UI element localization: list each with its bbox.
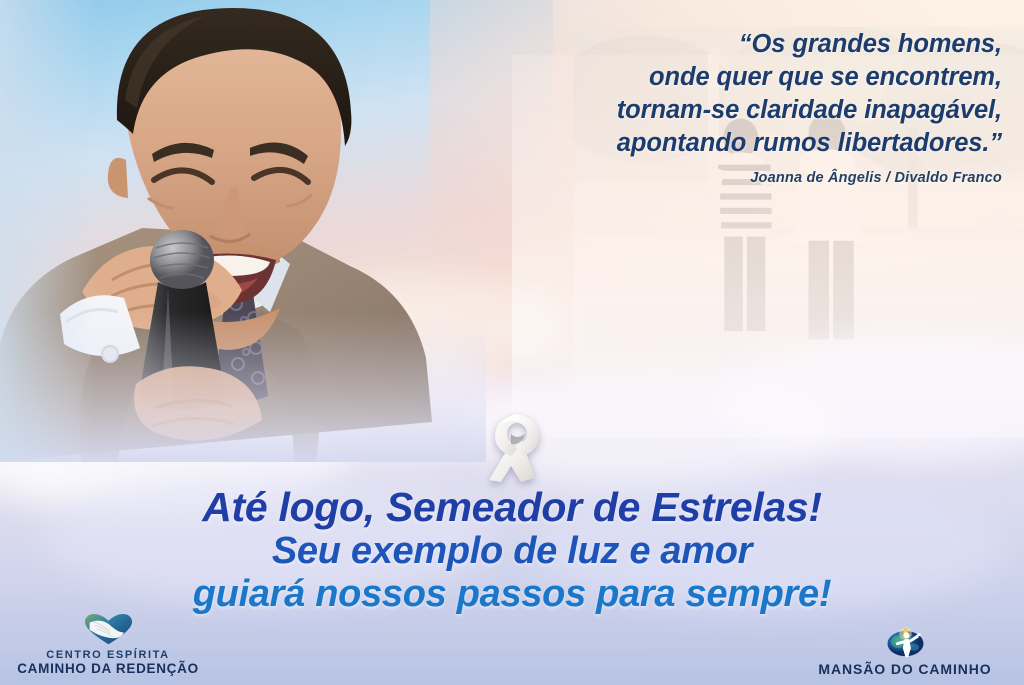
quote-text: “Os grandes homens, onde quer que se enc… [462,28,1002,161]
logo-centro-espirita[interactable]: CENTRO ESPÍRITA CAMINHO DA REDENÇÃO [8,610,208,677]
quote-line-1: “Os grandes homens, [462,28,1002,61]
portrait-divaldo-franco [0,0,486,462]
quote-line-4: apontando rumos libertadores.” [462,127,1002,160]
white-ribbon-icon [481,408,553,486]
quote-line-3: tornam-se claridade inapagável, [462,94,1002,127]
memorial-poster: “Os grandes homens, onde quer que se enc… [0,0,1024,685]
quote-attribution: Joanna de Ângelis / Divaldo Franco [462,170,1002,186]
logo-mansao-do-caminho[interactable]: MANSÃO DO CAMINHO [800,622,1010,677]
globe-figure-icon [800,622,1010,658]
tribute-message: Até logo, Semeador de Estrelas! Seu exem… [0,486,1024,615]
logo-left-line-2: CAMINHO DA REDENÇÃO [8,661,208,677]
message-line-2: Seu exemplo de luz e amor [0,532,1024,572]
logo-right-line-2: MANSÃO DO CAMINHO [800,661,1010,677]
message-line-3: guiará nossos passos para sempre! [0,575,1024,615]
quote-line-2: onde quer que se encontrem, [462,61,1002,94]
logo-left-line-1: CENTRO ESPÍRITA [8,649,208,662]
heart-hands-icon [8,610,208,646]
message-line-1: Até logo, Semeador de Estrelas! [0,486,1024,529]
